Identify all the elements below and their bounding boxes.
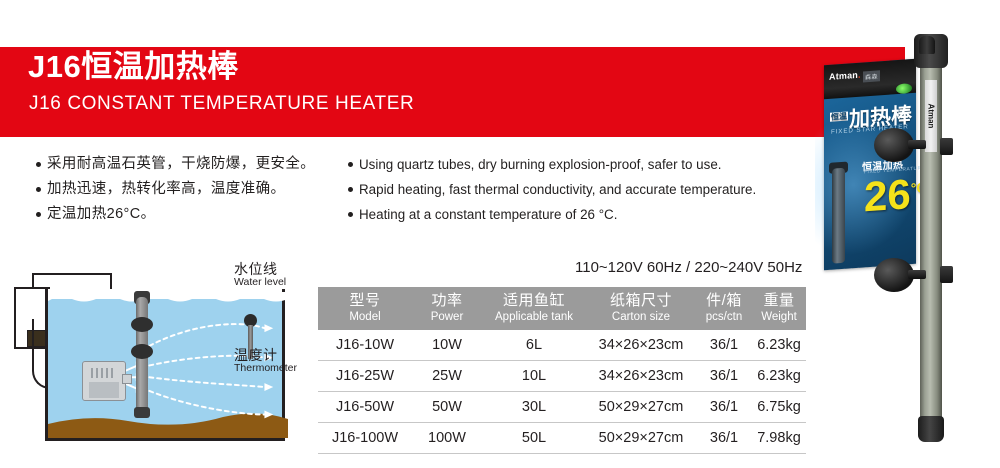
- cell-pcs: 36/1: [696, 361, 752, 392]
- rod-cap: [914, 34, 948, 68]
- cell-weight: 6.23kg: [752, 330, 806, 361]
- feature-text: 采用耐高温石英管，干烧防爆，更安全。: [47, 152, 315, 177]
- table-row: J16-100W 100W 50L 50×29×27cm 36/1 7.98kg: [318, 423, 806, 454]
- suction-cup-arm: [908, 270, 926, 279]
- brand-accent-icon: .: [858, 70, 861, 80]
- box-product-image: [832, 168, 845, 264]
- table-row: J16-25W 25W 10L 34×26×23cm 36/1 6.23kg: [318, 361, 806, 392]
- cell-model: J16-50W: [318, 392, 412, 423]
- product-photo: Atman. 森森 恒温加热棒 FIXED STAR HEATER 恒温加热 F…: [820, 0, 1000, 468]
- cell-tank: 50L: [482, 423, 586, 454]
- table-row: J16-50W 50W 30L 50×29×27cm 36/1 6.75kg: [318, 392, 806, 423]
- cell-power: 50W: [412, 392, 482, 423]
- heater-foot: [134, 407, 150, 418]
- cell-power: 25W: [412, 361, 482, 392]
- column-header-power: 功率 Power: [412, 287, 482, 330]
- product-packaging-box: Atman. 森森 恒温加热棒 FIXED STAR HEATER 恒温加热 F…: [824, 59, 916, 270]
- cell-tank: 10L: [482, 361, 586, 392]
- page-subtitle: J16 CONSTANT TEMPERATURE HEATER: [29, 94, 414, 113]
- cell-pcs: 36/1: [696, 423, 752, 454]
- cell-carton: 50×29×27cm: [586, 423, 696, 454]
- cell-carton: 34×26×23cm: [586, 330, 696, 361]
- feature-text: Rapid heating, fast thermal conductivity…: [359, 177, 756, 202]
- cell-pcs: 36/1: [696, 392, 752, 423]
- thermometer-label-en: Thermometer: [234, 363, 297, 375]
- pump-nozzle: [122, 374, 132, 384]
- bullet-icon: [348, 162, 353, 167]
- thermometer-label: 温度计 Thermometer: [234, 348, 297, 374]
- column-header-carton: 纸箱尺寸 Carton size: [586, 287, 696, 330]
- feature-text: 定温加热26°C。: [47, 202, 156, 227]
- pump-base: [89, 382, 119, 398]
- bullet-icon: [348, 212, 353, 217]
- power-cord-top: [32, 273, 112, 275]
- feature-text: Using quartz tubes, dry burning explosio…: [359, 152, 722, 177]
- feature-item: Using quartz tubes, dry burning explosio…: [348, 152, 818, 177]
- bullet-icon: [36, 212, 41, 217]
- voltage-spec: 110~120V 60Hz / 220~240V 50Hz: [575, 259, 802, 276]
- suction-cup-icon: [131, 344, 153, 359]
- suction-cup-bracket: [874, 258, 920, 292]
- box-badge-icon: 恒温: [830, 112, 848, 122]
- column-header-pcs: 件/箱 pcs/ctn: [696, 287, 752, 330]
- cell-pcs: 36/1: [696, 330, 752, 361]
- column-header-weight: 重量 Weight: [752, 287, 806, 330]
- feature-text: Heating at a constant temperature of 26 …: [359, 202, 617, 227]
- feature-item: 采用耐高温石英管，干烧防爆，更安全。: [36, 152, 336, 177]
- table-row: J16-10W 10W 6L 34×26×23cm 36/1 6.23kg: [318, 330, 806, 361]
- pump-grille: [91, 368, 113, 378]
- feature-item: 定温加热26°C。: [36, 202, 336, 227]
- suction-cup-bracket: [874, 128, 920, 162]
- cell-model: J16-10W: [318, 330, 412, 361]
- feature-item: 加热迅速，热转化率高，温度准确。: [36, 177, 336, 202]
- cell-tank: 6L: [482, 330, 586, 361]
- brand-logo-cn: 森森: [863, 70, 880, 82]
- water-level-label-en: Water level: [234, 277, 286, 289]
- suction-cup-icon: [131, 317, 153, 332]
- rod-brand-label: Atman: [925, 80, 937, 152]
- product-spec-sheet: J16恒温加热棒 J16 CONSTANT TEMPERATURE HEATER…: [0, 0, 1000, 468]
- cell-tank: 30L: [482, 392, 586, 423]
- filter-pump-icon: [82, 361, 126, 401]
- feature-text: 加热迅速，热转化率高，温度准确。: [47, 177, 285, 202]
- heater-product-rod: Atman: [918, 20, 944, 450]
- table-header-row: 型号 Model 功率 Power 适用鱼缸 Applicable tank 纸…: [318, 287, 806, 330]
- cell-power: 100W: [412, 423, 482, 454]
- cell-carton: 50×29×27cm: [586, 392, 696, 423]
- cell-weight: 6.75kg: [752, 392, 806, 423]
- column-header-model: 型号 Model: [318, 287, 412, 330]
- bullet-icon: [36, 162, 41, 167]
- cell-weight: 6.23kg: [752, 361, 806, 392]
- feature-column-english: Using quartz tubes, dry burning explosio…: [348, 152, 818, 227]
- feature-item: Heating at a constant temperature of 26 …: [348, 202, 818, 227]
- bullet-icon: [348, 187, 353, 192]
- rod-clip-icon: [940, 138, 953, 155]
- cell-model: J16-25W: [318, 361, 412, 392]
- cell-weight: 7.98kg: [752, 423, 806, 454]
- water-level-label: 水位线 Water level: [234, 262, 286, 288]
- page-title: J16恒温加热棒: [28, 51, 239, 82]
- specification-table: 型号 Model 功率 Power 适用鱼缸 Applicable tank 纸…: [318, 287, 806, 454]
- column-header-tank: 适用鱼缸 Applicable tank: [482, 287, 586, 330]
- rod-clip-icon: [940, 266, 953, 283]
- cell-power: 10W: [412, 330, 482, 361]
- feature-item: Rapid heating, fast thermal conductivity…: [348, 177, 818, 202]
- cell-model: J16-100W: [318, 423, 412, 454]
- suction-cup-arm: [908, 140, 926, 149]
- water-level-label-cn: 水位线: [234, 262, 286, 277]
- aquarium-diagram: 水位线 Water level 温度计 Thermometer: [12, 262, 312, 452]
- cell-carton: 34×26×23cm: [586, 361, 696, 392]
- bullet-icon: [36, 187, 41, 192]
- rod-foot: [918, 416, 944, 442]
- rod-knob: [919, 36, 935, 54]
- thermometer-label-cn: 温度计: [234, 348, 297, 363]
- feature-column-chinese: 采用耐高温石英管，干烧防爆，更安全。 加热迅速，热转化率高，温度准确。 定温加热…: [36, 152, 336, 227]
